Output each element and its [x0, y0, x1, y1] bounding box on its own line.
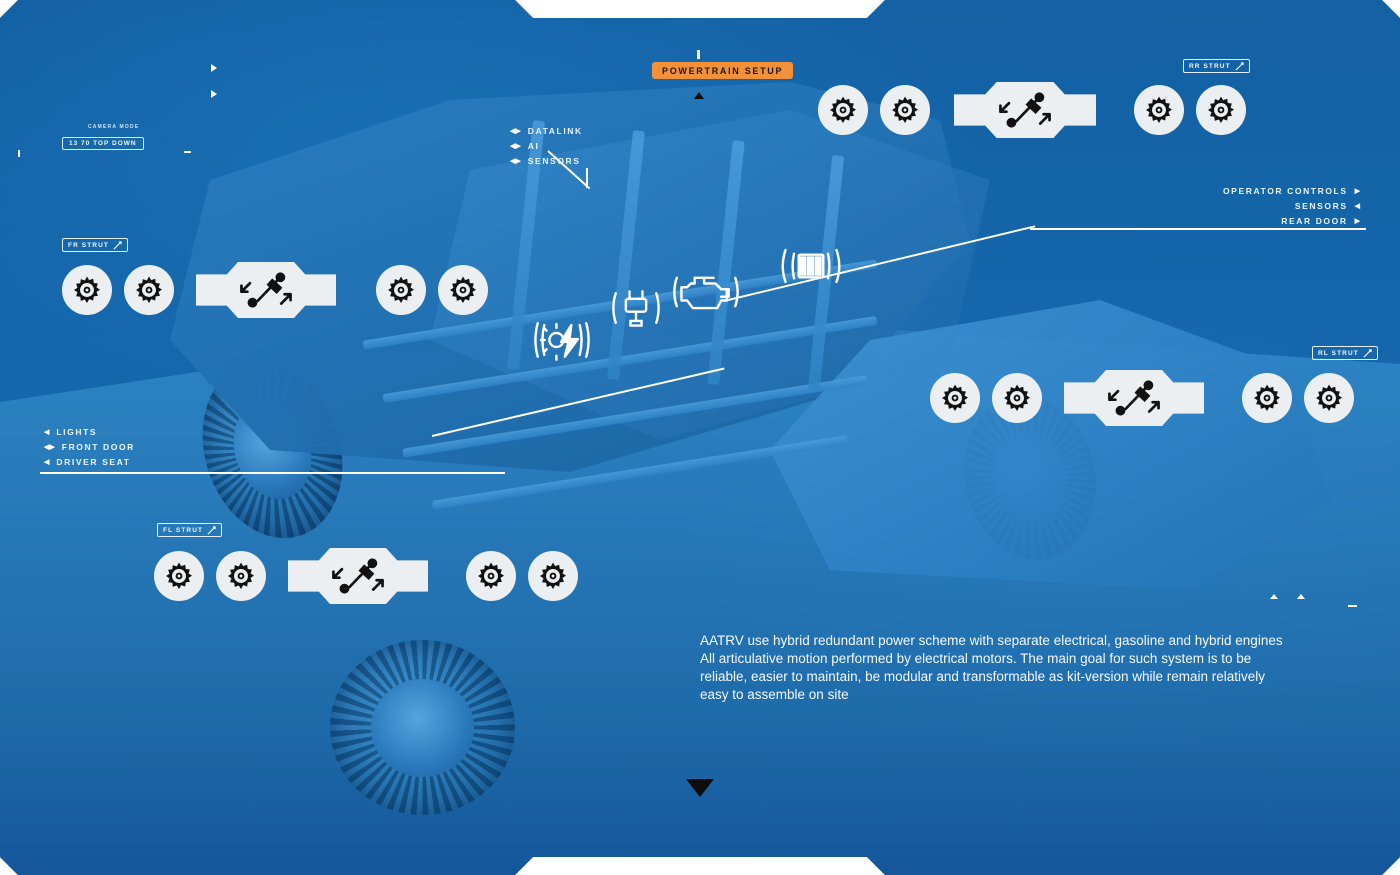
menu-item-ai[interactable]: ◀▶ AI — [510, 139, 583, 154]
menu-item-operator-controls[interactable]: OPERATOR CONTROLS ▶ — [1180, 184, 1360, 199]
component-engine[interactable] — [672, 264, 740, 320]
shock-absorber-icon — [232, 268, 300, 312]
menu-item-sensors-right[interactable]: SENSORS ◀ — [1180, 199, 1360, 214]
gear-motor-button[interactable] — [880, 85, 930, 135]
scroll-down-indicator[interactable] — [686, 779, 714, 797]
component-hybrid-power[interactable] — [534, 312, 590, 368]
battery-cells-icon — [778, 240, 844, 292]
plug-icon — [612, 282, 660, 334]
camera-mode-value[interactable]: 13 70 TOP DOWN — [62, 137, 144, 150]
edge-marker-top-2[interactable] — [211, 90, 217, 98]
strut-tag-fl[interactable]: FL STRUT — [157, 523, 222, 537]
badge-pointer-icon — [694, 92, 704, 99]
gear-icon — [826, 93, 860, 127]
camera-mode-label: CAMERA MODE — [88, 124, 139, 130]
gear-motor-button[interactable] — [1242, 373, 1292, 423]
menu-item-label: AI — [528, 139, 540, 154]
leader-line-left-horizontal — [40, 472, 505, 474]
gear-icon — [224, 559, 258, 593]
menu-item-rear-door[interactable]: REAR DOOR ▶ — [1180, 214, 1360, 229]
actuator-cluster-rear-right — [818, 82, 1246, 138]
gear-icon — [474, 559, 508, 593]
gear-motor-button[interactable] — [1134, 85, 1184, 135]
powertrain-setup-badge[interactable]: POWERTRAIN SETUP — [652, 62, 793, 79]
strut-tag-label: RR STRUT — [1189, 63, 1231, 70]
menu-item-sensors-top[interactable]: ◀▶ SENSORS — [510, 154, 583, 169]
strut-tag-label: FR STRUT — [68, 242, 109, 249]
gear-icon — [384, 273, 418, 307]
description-line: AATRV use hybrid redundant power scheme … — [700, 632, 1320, 650]
shock-absorber-icon — [991, 88, 1059, 132]
menu-item-label: SENSORS — [528, 154, 581, 169]
gear-motor-button[interactable] — [466, 551, 516, 601]
strut-icon — [113, 241, 122, 250]
left-top-menu: ◀▶ DATALINK ◀▶ AI ◀▶ SENSORS — [510, 124, 583, 169]
shock-absorber-icon — [324, 554, 392, 598]
screen-root: POWERTRAIN SETUP CAMERA MODE 13 70 TOP D… — [0, 0, 1400, 875]
left-right-arrow-icon: ◀▶ — [510, 158, 521, 165]
strut-tag-rl[interactable]: RL STRUT — [1312, 346, 1378, 360]
description-line: easy to assemble on site — [700, 686, 1320, 704]
menu-item-front-door[interactable]: ◀▶ FRONT DOOR — [44, 440, 135, 455]
gear-motor-button[interactable] — [62, 265, 112, 315]
camera-scale-tick-right — [184, 151, 191, 153]
gear-motor-button[interactable] — [154, 551, 204, 601]
strut-icon — [1235, 62, 1244, 71]
shock-absorber-panel[interactable] — [196, 262, 336, 318]
left-bottom-menu: ◀ LIGHTS ◀▶ FRONT DOOR ◀ DRIVER SEAT — [44, 425, 135, 470]
gear-icon — [1142, 93, 1176, 127]
left-arrow-icon: ◀ — [44, 459, 49, 466]
gear-icon — [1204, 93, 1238, 127]
actuator-cluster-rear-left — [930, 370, 1354, 426]
shock-absorber-panel[interactable] — [954, 82, 1096, 138]
menu-item-datalink[interactable]: ◀▶ DATALINK — [510, 124, 583, 139]
gear-motor-button[interactable] — [992, 373, 1042, 423]
description-block: AATRV use hybrid redundant power scheme … — [700, 632, 1320, 704]
shock-absorber-panel[interactable] — [1064, 370, 1204, 426]
menu-item-label: LIGHTS — [56, 425, 97, 440]
right-arrow-icon: ▶ — [1355, 218, 1360, 225]
gear-icon — [1312, 381, 1346, 415]
actuator-cluster-front-right — [154, 548, 578, 604]
edge-marker-top-1[interactable] — [211, 64, 217, 72]
gear-motor-button[interactable] — [528, 551, 578, 601]
menu-item-label: OPERATOR CONTROLS — [1223, 184, 1348, 199]
gear-motor-button[interactable] — [376, 265, 426, 315]
component-electrical[interactable] — [612, 282, 660, 334]
corner-marker-2[interactable] — [1297, 594, 1305, 599]
right-menu: OPERATOR CONTROLS ▶ SENSORS ◀ REAR DOOR … — [1180, 184, 1360, 229]
gear-icon — [938, 381, 972, 415]
menu-item-lights[interactable]: ◀ LIGHTS — [44, 425, 135, 440]
menu-item-label: DRIVER SEAT — [56, 455, 130, 470]
description-line: All articulative motion performed by ele… — [700, 650, 1320, 668]
menu-item-label: SENSORS — [1295, 199, 1348, 214]
gear-motor-button[interactable] — [818, 85, 868, 135]
gear-icon — [446, 273, 480, 307]
corner-marker-1[interactable] — [1270, 594, 1278, 599]
menu-item-label: DATALINK — [528, 124, 583, 139]
component-battery[interactable] — [778, 240, 844, 292]
engine-icon — [672, 264, 740, 320]
gear-icon — [888, 93, 922, 127]
left-right-arrow-icon: ◀▶ — [510, 128, 521, 135]
strut-tag-label: RL STRUT — [1318, 350, 1359, 357]
strut-tag-rr[interactable]: RR STRUT — [1183, 59, 1250, 73]
description-line: reliable, easier to maintain, be modular… — [700, 668, 1320, 686]
left-arrow-icon: ◀ — [44, 429, 49, 436]
gear-motor-button[interactable] — [930, 373, 980, 423]
corner-dash-marker — [1348, 605, 1357, 607]
leader-line-top-vertical — [586, 168, 588, 188]
shock-absorber-panel[interactable] — [288, 548, 428, 604]
left-right-arrow-icon: ◀▶ — [44, 444, 55, 451]
gear-icon — [536, 559, 570, 593]
badge-tick — [697, 50, 700, 59]
strut-tag-label: FL STRUT — [163, 527, 203, 534]
gear-motor-button[interactable] — [1304, 373, 1354, 423]
gear-icon — [162, 559, 196, 593]
gear-icon — [1000, 381, 1034, 415]
hud-viewport: POWERTRAIN SETUP CAMERA MODE 13 70 TOP D… — [0, 0, 1400, 875]
shock-absorber-icon — [1100, 376, 1168, 420]
gear-icon — [132, 273, 166, 307]
strut-icon — [207, 526, 216, 535]
left-right-arrow-icon: ◀▶ — [510, 143, 521, 150]
gear-motor-button[interactable] — [1196, 85, 1246, 135]
gear-icon — [1250, 381, 1284, 415]
gear-motor-button[interactable] — [438, 265, 488, 315]
strut-icon — [1363, 349, 1372, 358]
menu-item-label: FRONT DOOR — [62, 440, 135, 455]
menu-item-label: REAR DOOR — [1281, 214, 1347, 229]
actuator-cluster-front-left — [62, 262, 488, 318]
strut-tag-fr[interactable]: FR STRUT — [62, 238, 128, 252]
vehicle-wheel-front-left — [330, 640, 515, 815]
menu-item-driver-seat[interactable]: ◀ DRIVER SEAT — [44, 455, 135, 470]
camera-scale-tick-left — [18, 150, 20, 157]
right-arrow-icon: ▶ — [1355, 188, 1360, 195]
gear-motor-button[interactable] — [216, 551, 266, 601]
solar-lightning-icon — [534, 312, 590, 368]
left-arrow-icon: ◀ — [1355, 203, 1360, 210]
gear-motor-button[interactable] — [124, 265, 174, 315]
gear-icon — [70, 273, 104, 307]
